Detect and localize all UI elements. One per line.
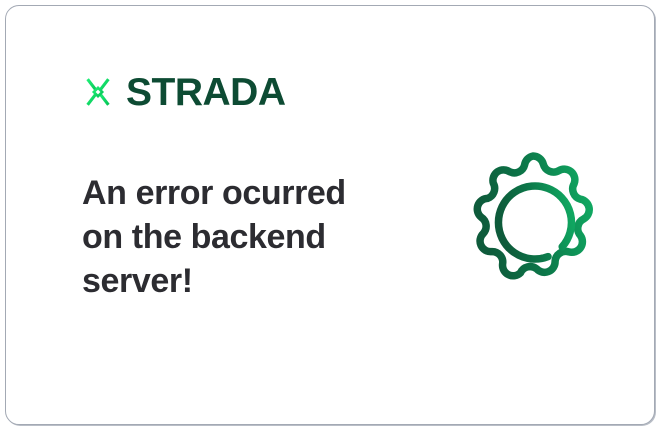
gear-cog-icon [449, 142, 617, 310]
error-headline: An error ocurred on the backend server! [82, 171, 372, 304]
strada-asterisk-icon [78, 72, 118, 112]
error-card: STRADA An error ocurred on the backend s… [5, 5, 655, 425]
brand-wordmark: STRADA [126, 73, 286, 112]
brand-lockup: STRADA [78, 72, 286, 112]
